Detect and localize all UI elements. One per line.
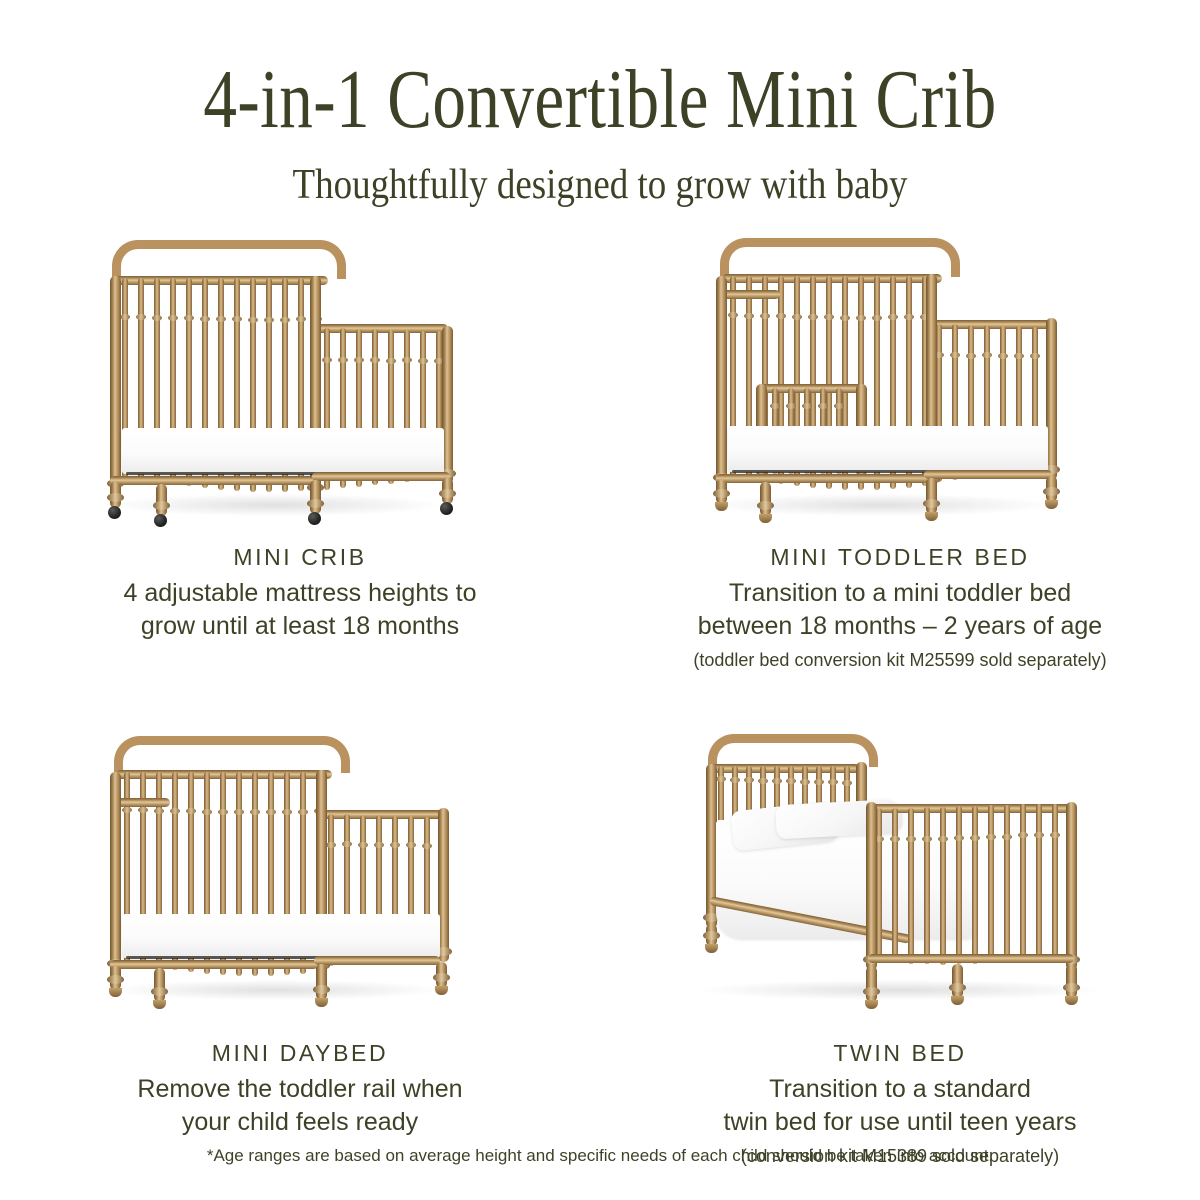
- panel-label: MINI DAYBED: [212, 1040, 388, 1067]
- headboard-arch: [720, 238, 960, 277]
- headboard-arch: [114, 736, 350, 773]
- mini-crib-illustration: [80, 232, 520, 532]
- spindle: [1020, 804, 1026, 960]
- spindle: [988, 805, 994, 963]
- panel-mini-daybed: MINI DAYBED Remove the toddler rail when…: [0, 728, 600, 1168]
- leg: [1046, 476, 1057, 502]
- leg: [706, 924, 717, 946]
- bottom-rail: [312, 472, 450, 481]
- description-line-2: grow until at least 18 months: [141, 612, 459, 640]
- caster: [308, 512, 321, 525]
- footboard-post: [866, 802, 877, 970]
- leg: [436, 962, 447, 988]
- description-line-1: Remove the toddler rail when: [137, 1075, 462, 1103]
- foot: [435, 986, 448, 995]
- caster: [108, 506, 121, 519]
- leg: [926, 478, 937, 514]
- spindle: [924, 807, 930, 964]
- description-line-2: twin bed for use until teen years: [724, 1108, 1077, 1136]
- footboard-bottom-rail: [868, 954, 1074, 963]
- bottom-rail: [110, 476, 316, 485]
- panel-grid: MINI CRIB 4 adjustable mattress heights …: [0, 232, 1200, 1169]
- foot: [951, 996, 964, 1005]
- spindle: [972, 806, 978, 964]
- foot: [925, 512, 938, 521]
- leg: [760, 482, 771, 516]
- panel-label: MINI TODDLER BED: [770, 544, 1029, 571]
- description-line-1: Transition to a standard: [769, 1075, 1031, 1103]
- foot: [865, 1000, 878, 1009]
- mini-toddler-bed-illustration: [680, 232, 1120, 532]
- panel-note: (toddler bed conversion kit M25599 sold …: [693, 649, 1106, 672]
- spindle: [892, 808, 898, 963]
- panel-row-top: MINI CRIB 4 adjustable mattress heights …: [0, 232, 1200, 672]
- panel-description: Remove the toddler rail when your child …: [137, 1073, 462, 1138]
- leg: [716, 480, 727, 504]
- spindle: [940, 807, 946, 965]
- panel-mini-crib: MINI CRIB 4 adjustable mattress heights …: [0, 232, 600, 672]
- side-rail-top: [316, 324, 448, 333]
- description-line-1: Transition to a mini toddler bed: [729, 579, 1071, 607]
- headboard-arch: [112, 240, 346, 279]
- bottom-rail: [924, 470, 1052, 479]
- leg: [442, 478, 453, 504]
- foot: [109, 988, 122, 997]
- panel-label: TWIN BED: [833, 1040, 966, 1067]
- ground-shadow: [700, 980, 1100, 1000]
- leg: [110, 482, 121, 508]
- footboard-post: [1066, 802, 1077, 970]
- leg: [952, 964, 963, 998]
- footnote: *Age ranges are based on average height …: [0, 1146, 1200, 1166]
- panel-row-bottom: MINI DAYBED Remove the toddler rail when…: [0, 728, 1200, 1168]
- bottom-rail: [716, 474, 928, 483]
- mattress: [122, 428, 444, 474]
- spindle: [908, 808, 914, 964]
- foot: [759, 514, 772, 523]
- leg: [1066, 964, 1077, 998]
- description-line-2: between 18 months – 2 years of age: [698, 612, 1102, 640]
- spindle: [1004, 805, 1010, 962]
- corner-post: [110, 772, 121, 974]
- leg: [110, 966, 121, 990]
- panel-description: Transition to a mini toddler bed between…: [698, 577, 1102, 642]
- mattress: [122, 914, 440, 958]
- corner-post: [716, 276, 727, 488]
- mini-daybed-illustration: [80, 728, 520, 1028]
- foot: [315, 998, 328, 1007]
- bottom-rail: [110, 960, 318, 969]
- leg: [156, 484, 167, 516]
- spindle: [1036, 804, 1042, 959]
- mattress: [728, 426, 1048, 472]
- page-title: 4-in-1 Convertible Mini Crib: [120, 0, 1080, 142]
- description-line-2: your child feels ready: [182, 1108, 418, 1136]
- leg: [310, 480, 321, 514]
- panel-description: Transition to a standard twin bed for us…: [724, 1073, 1077, 1138]
- spindle: [718, 766, 724, 822]
- spindle: [956, 806, 962, 964]
- description-line-1: 4 adjustable mattress heights to: [124, 579, 477, 607]
- foot: [1045, 500, 1058, 509]
- panel-description: 4 adjustable mattress heights to grow un…: [124, 577, 477, 642]
- foot: [705, 944, 718, 953]
- leg: [154, 968, 165, 1002]
- bottom-rail: [314, 956, 440, 965]
- foot: [153, 1000, 166, 1009]
- caster: [154, 514, 167, 527]
- panel-mini-toddler-bed: MINI TODDLER BED Transition to a mini to…: [600, 232, 1200, 672]
- page-subtitle: Thoughtfully designed to grow with baby: [72, 142, 1128, 206]
- spindle: [1052, 804, 1058, 958]
- panel-label: MINI CRIB: [233, 544, 366, 571]
- footboard-top-rail: [868, 804, 1074, 813]
- headboard-arch: [708, 734, 878, 767]
- end-panel-rail: [718, 290, 780, 299]
- corner-post: [110, 276, 121, 494]
- twin-bed-illustration: [680, 728, 1120, 1028]
- caster: [440, 502, 453, 515]
- header: 4-in-1 Convertible Mini Crib Thoughtfull…: [0, 0, 1200, 206]
- panel-twin-bed: TWIN BED Transition to a standard twin b…: [600, 728, 1200, 1168]
- leg: [866, 966, 877, 1002]
- foot: [1065, 996, 1078, 1005]
- leg: [316, 964, 327, 1000]
